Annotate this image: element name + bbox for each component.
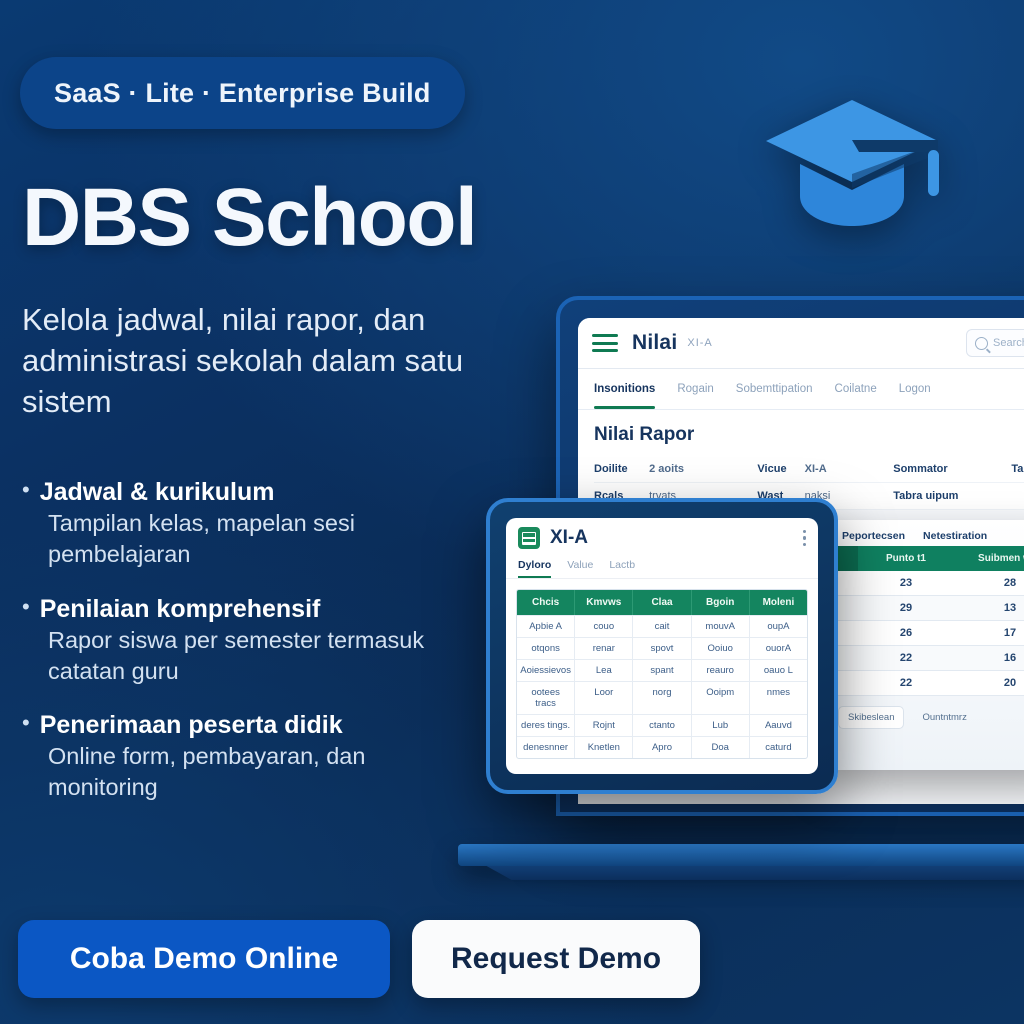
- cell: 13: [954, 596, 1024, 620]
- cell: Aauvd: [750, 715, 807, 736]
- try-demo-button[interactable]: Coba Demo Online: [18, 920, 390, 998]
- cell: Apro: [633, 737, 691, 758]
- subheadline: Kelola jadwal, nilai rapor, dan administ…: [22, 300, 492, 423]
- cell: norg: [633, 682, 691, 714]
- bullet-dot-icon: •: [22, 711, 30, 734]
- cell: spant: [633, 660, 691, 681]
- page-title: DBS School: [22, 177, 582, 259]
- cell: Loor: [575, 682, 633, 714]
- feature-title: Jadwal & kurikulum: [40, 478, 275, 506]
- feature-list: • Jadwal & kurikulum Tampilan kelas, map…: [22, 478, 472, 828]
- column-header: Bgoin: [692, 590, 750, 615]
- graduation-cap-icon: [728, 78, 976, 248]
- feature-desc: Online form, pembayaran, dan monitoring: [48, 741, 472, 804]
- feature-title: Penerimaan peserta didik: [40, 711, 343, 739]
- cell: Suibmen w68: [954, 546, 1024, 571]
- bullet-dot-icon: •: [22, 478, 30, 501]
- cell: Tabra sipum: [1011, 463, 1024, 475]
- sheet-header-1: Peportecsen: [842, 530, 905, 542]
- table-row: deres tings. Rojnt ctanto Lub Aauvd: [517, 714, 807, 736]
- table-row: otqons renar spovt Ooiuo ouorA: [517, 637, 807, 659]
- table-row: denesnner Knetlen Apro Doa caturd: [517, 736, 807, 758]
- app-body: Nilai Rapor Doilite 2 aoits Vicue XI-A S…: [578, 410, 1024, 510]
- cell: Doa: [692, 737, 750, 758]
- tablet-tab-lactb[interactable]: Lactb: [609, 555, 635, 578]
- sheet-header-2: Netestiration: [923, 530, 987, 542]
- cell: [826, 621, 858, 645]
- cta-row: Coba Demo Online Request Demo: [18, 920, 700, 998]
- cell: XI-A: [805, 463, 894, 475]
- cell: сait: [633, 616, 691, 637]
- table-row: ootees tracs Loor norg Ooipm nmes: [517, 681, 807, 714]
- tablet-tab-value[interactable]: Value: [567, 555, 593, 578]
- promo-poster: Nilai XI-A Search Insonitions Rogain Sob…: [0, 0, 1024, 1024]
- laptop-mockup: Nilai XI-A Search Insonitions Rogain Sob…: [556, 296, 1024, 816]
- hamburger-icon[interactable]: [592, 334, 618, 352]
- table-row: Aoiessievos Lea spant reauro oauo L: [517, 659, 807, 681]
- table-row: Doilite 2 aoits Vicue XI-A Sommator Tabr…: [594, 456, 1024, 483]
- cell: Wast: [757, 490, 804, 502]
- cell: couo: [575, 616, 633, 637]
- cell: Punto t1: [858, 546, 954, 571]
- cell: 29: [858, 596, 954, 620]
- search-input[interactable]: Search: [966, 329, 1024, 357]
- request-demo-label: Request Demo: [451, 942, 661, 976]
- tab-sobemttipation[interactable]: Sobemttipation: [736, 369, 813, 409]
- list-item: • Jadwal & kurikulum Tampilan kelas, map…: [22, 478, 472, 571]
- cell: caturd: [750, 737, 807, 758]
- table-header-row: Chcis Kmvws Claa Bgoin Moleni: [517, 590, 807, 615]
- kebab-menu-icon[interactable]: [803, 530, 807, 547]
- panel-title: Nilai Rapor: [594, 424, 1024, 446]
- copy-column: SaaS · Lite · Enterprise Build DBS Schoo…: [0, 0, 560, 1024]
- table-row: 23 28: [826, 571, 1024, 596]
- feature-desc: Rapor siswa per semester termasuk catata…: [48, 625, 472, 688]
- tab-logon[interactable]: Logon: [899, 369, 931, 409]
- column-header: Kmvws: [575, 590, 633, 615]
- app-tab-bar: Insonitions Rogain Sobemttipation Coilat…: [578, 369, 1024, 410]
- sheet-panel-buttons: Skibeslean Ountntmrz: [826, 696, 1024, 739]
- tab-insonitions[interactable]: Insonitions: [594, 369, 655, 409]
- cell: Rcals: [594, 490, 649, 502]
- cell: 23: [858, 571, 954, 595]
- table-row: Rcals trvats Wast naksi Tabra uipum: [594, 483, 1024, 510]
- cell: ctanto: [633, 715, 691, 736]
- column-header: Moleni: [750, 590, 807, 615]
- list-item: • Penilaian komprehensif Rapor siswa per…: [22, 595, 472, 688]
- try-demo-label: Coba Demo Online: [70, 942, 338, 976]
- app-subtitle: XI-A: [687, 337, 712, 349]
- sheet-button-primary[interactable]: Skibeslean: [838, 706, 904, 729]
- cell: 17: [954, 621, 1024, 645]
- tab-rogain[interactable]: Rogain: [677, 369, 713, 409]
- list-item: • Penerimaan peserta didik Online form, …: [22, 711, 472, 804]
- cell: Doilite: [594, 463, 649, 475]
- tab-coilatne[interactable]: Coilatne: [835, 369, 877, 409]
- cell: 2 aoits: [649, 463, 757, 475]
- feature-desc: Tampilan kelas, mapelan sesi pembelajara…: [48, 508, 472, 571]
- cell: 26: [858, 621, 954, 645]
- cell: Tabra uipum: [893, 490, 1011, 502]
- search-icon: [975, 337, 988, 350]
- cell: Knetlen: [575, 737, 633, 758]
- table-row: Apbie A couo сait mouvA oupA: [517, 615, 807, 637]
- cell: 20: [954, 671, 1024, 695]
- cell: Lea: [575, 660, 633, 681]
- cell: [826, 596, 858, 620]
- cell: [826, 671, 858, 695]
- search-placeholder: Search: [993, 337, 1024, 349]
- cell: Lub: [692, 715, 750, 736]
- cell: Ooiuo: [692, 638, 750, 659]
- cell: 16: [954, 646, 1024, 670]
- laptop-bezel: Nilai XI-A Search Insonitions Rogain Sob…: [556, 296, 1024, 816]
- cell: naksi: [805, 490, 894, 502]
- table-row: 22 20: [826, 671, 1024, 696]
- badge-label: SaaS · Lite · Enterprise Build: [54, 78, 431, 109]
- cell: ouorA: [750, 638, 807, 659]
- table-row: 26 17: [826, 621, 1024, 646]
- sheet-button-secondary[interactable]: Ountntmrz: [912, 706, 976, 729]
- app-title: Nilai: [632, 331, 677, 355]
- cell: trvats: [649, 490, 757, 502]
- cell: spovt: [633, 638, 691, 659]
- cell: nmes: [750, 682, 807, 714]
- eyebrow-badge: SaaS · Lite · Enterprise Build: [20, 57, 465, 129]
- request-demo-button[interactable]: Request Demo: [412, 920, 700, 998]
- cell: renar: [575, 638, 633, 659]
- app-topbar: Nilai XI-A Search: [578, 318, 1024, 369]
- table-row: 22 16: [826, 646, 1024, 671]
- sheet-panel-headers: Peportecsen Netestiration: [826, 520, 1024, 546]
- column-header: Claa: [633, 590, 691, 615]
- table-row: 29 13: [826, 596, 1024, 621]
- cell: reauro: [692, 660, 750, 681]
- sheet-panel: Peportecsen Netestiration Punto t1 Suibm…: [826, 520, 1024, 770]
- cell: Sommator: [893, 463, 1011, 475]
- cell: mouvA: [692, 616, 750, 637]
- laptop-screen: Nilai XI-A Search Insonitions Rogain Sob…: [578, 318, 1024, 804]
- cell: Ooipm: [692, 682, 750, 714]
- bullet-dot-icon: •: [22, 595, 30, 618]
- cell: Rojnt: [575, 715, 633, 736]
- cell: oauo L: [750, 660, 807, 681]
- cell: oupA: [750, 616, 807, 637]
- cell: [826, 571, 858, 595]
- cell: Vicue: [757, 463, 804, 475]
- cell: [826, 646, 858, 670]
- cell: 22: [858, 646, 954, 670]
- cell: 28: [954, 571, 1024, 595]
- sheet-green-header: Punto t1 Suibmen w68: [826, 546, 1024, 571]
- feature-title: Penilaian komprehensif: [40, 595, 321, 623]
- cell: [826, 546, 858, 571]
- cell: 22: [858, 671, 954, 695]
